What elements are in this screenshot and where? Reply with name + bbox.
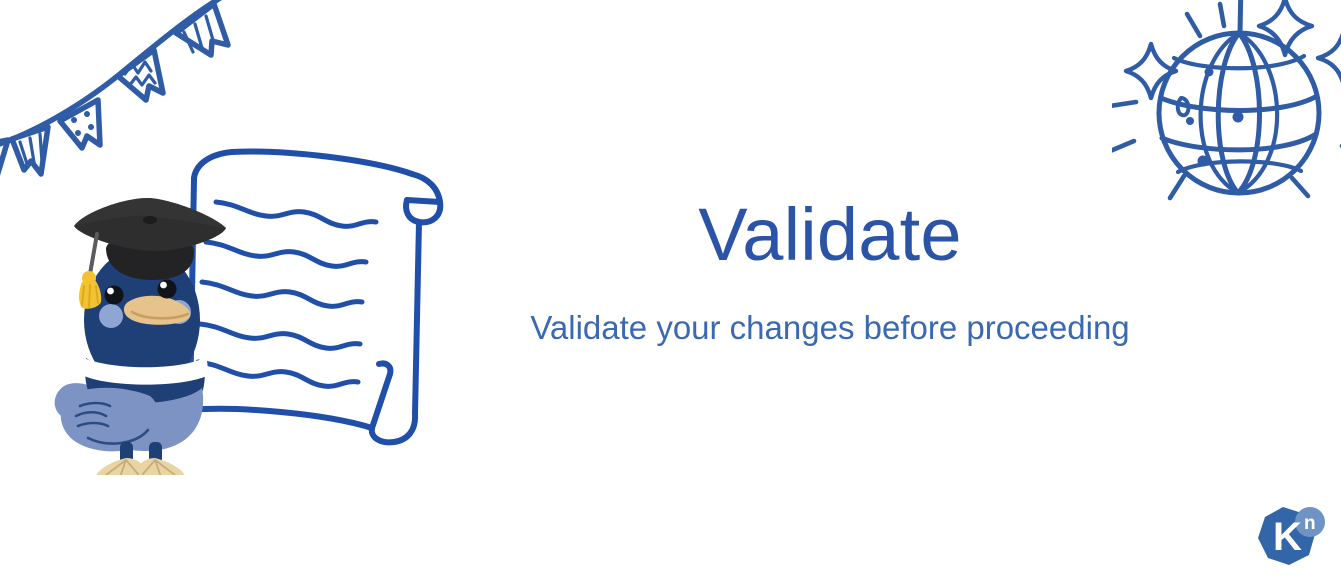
cap-band — [106, 231, 194, 280]
party-bunting-garland-illustration — [0, 0, 236, 190]
bunting-flag-3 — [60, 100, 100, 148]
bunting-flag-2 — [12, 127, 48, 174]
logo-letter-n: n — [1304, 513, 1316, 534]
logo-letter-k: K — [1273, 515, 1302, 559]
graduate-bird-mascot-illustration — [54, 190, 240, 475]
sparkle-icon-2 — [1318, 30, 1341, 86]
eye-left — [105, 286, 124, 305]
hero-banner: Validate Validate your changes before pr… — [0, 0, 1341, 585]
kn-brand-logo: K n — [1253, 503, 1327, 573]
bunting-flag-1 — [0, 140, 8, 186]
eye-right — [158, 280, 177, 299]
hero-text-block: Validate Validate your changes before pr… — [470, 196, 1190, 347]
bunting-flag-5 — [176, 4, 228, 55]
beak — [124, 296, 190, 325]
scroll-text-lines — [198, 202, 376, 386]
page-title: Validate — [470, 196, 1190, 274]
page-subtitle: Validate your changes before proceeding — [470, 274, 1190, 348]
sparkle-icon-3 — [1126, 44, 1176, 98]
cap-top — [74, 198, 226, 251]
cheek-right — [167, 300, 191, 324]
scroll-certificate-illustration — [176, 138, 466, 458]
sparkle-icon-1 — [1259, 0, 1312, 55]
bunting-flag-4 — [118, 50, 163, 100]
cheek-left — [99, 304, 123, 328]
